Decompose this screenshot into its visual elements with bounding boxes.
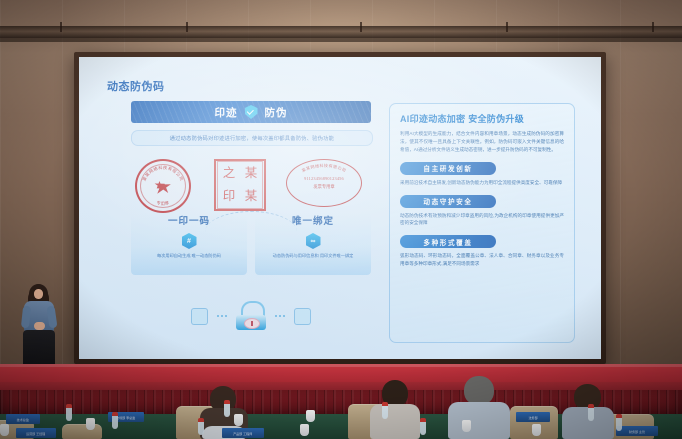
- water-bottle: [382, 402, 388, 419]
- square-seal: 之 某 印 某: [214, 159, 266, 211]
- stamp-icon: [294, 308, 311, 325]
- pair-card-title: 一印一码: [168, 213, 210, 227]
- tea-cup: [234, 414, 243, 426]
- nameplate-text: 产品部 工程师: [233, 431, 252, 436]
- right-panel-body: 利用AI大模型的生成能力，结合文件内容和用章场景，动态生成防伪码的加密算法，使其…: [400, 130, 564, 154]
- svg-text:某某网络科技有限公司: 某某网络科技有限公司: [300, 162, 347, 173]
- slide-right-panel: AI印迹动态加密 安全防伪升级 利用AI大模型的生成能力，结合文件内容和用章场景…: [389, 103, 575, 343]
- slide-banner: 印迹 防伪: [131, 101, 371, 123]
- tea-cup: [306, 410, 315, 422]
- audience-shirt: [448, 402, 510, 439]
- presentation-slide: 动态防伪码 印迹 防伪 通过动态防伪码对印迹进行加密，使每次盖印都具备防伪、验伪…: [79, 57, 601, 359]
- tea-cup: [86, 418, 95, 430]
- conference-presentation-photo: 动态防伪码 印迹 防伪 通过动态防伪码对印迹进行加密，使每次盖印都具备防伪、验伪…: [0, 0, 682, 439]
- shield-check-icon: [245, 105, 258, 119]
- document-icon: [191, 308, 208, 325]
- section-chip-independent-rd: 自主研发创新: [400, 162, 496, 175]
- water-bottle: [198, 418, 204, 435]
- nameplate-text: 技术总监: [17, 417, 29, 422]
- section-chip-label: 自主研发创新: [423, 163, 472, 173]
- link-dots: [217, 315, 227, 317]
- projection-screen: 动态防伪码 印迹 防伪 通过动态防伪码对印迹进行加密，使每次盖印都具备防伪、验伪…: [79, 57, 601, 359]
- rail-tick: [60, 22, 62, 32]
- lock-icon: [236, 302, 266, 330]
- oval-seal: 某某网络科技有限公司 91123456890123456 发票专用章: [286, 159, 362, 207]
- presenter-trousers: [23, 330, 55, 367]
- link-bind-icon: ∞: [306, 233, 321, 249]
- tea-cup: [462, 420, 471, 432]
- rail-tick: [506, 22, 508, 32]
- square-seal-inner: 之 某 印 某: [217, 161, 263, 209]
- table-nameplate: 技术总监: [6, 414, 40, 424]
- table-nameplate: 法务部: [516, 412, 550, 422]
- slide-subtitle: 通过动态防伪码对印迹进行加密，使每次盖印都具备防伪、验伪功能: [131, 130, 373, 146]
- audience-member: [448, 376, 510, 439]
- pair-cards: 一印一码 # 每次用印自动生成 唯一动态防伪码 唯一绑定 ∞ 动态防伪码与用印信…: [131, 213, 371, 275]
- presenter-arm-right: [47, 306, 58, 329]
- seal-row: 某某网络科技有限公司 专用章 之 某 印 某: [131, 157, 371, 209]
- presenter-hands: [34, 322, 45, 330]
- nameplate-text: 市场部 李总监: [116, 415, 135, 420]
- slide-title: 动态防伪码: [107, 78, 165, 94]
- water-bottle: [112, 412, 118, 429]
- dynamic-code-icon: #: [182, 233, 197, 249]
- round-star-seal: 某某网络科技有限公司 专用章: [135, 159, 191, 213]
- right-panel-title: AI印迹动态加密 安全防伪升级: [400, 112, 564, 125]
- audience-head: [464, 376, 494, 405]
- section-chip-label: 多种形式覆盖: [423, 237, 472, 247]
- rail-tick: [360, 22, 362, 32]
- nameplate-text: 运营部 王经理: [26, 431, 45, 436]
- presenter-speaker: [16, 284, 62, 370]
- section-text-multi-format: 弧形动态码、环形动态码，全面覆盖公章、法人章、合同章、财务章以及业务专用章等多种…: [400, 252, 564, 268]
- slide-subtitle-text: 通过动态防伪码对印迹进行加密，使每次盖印都具备防伪、验伪功能: [170, 134, 334, 142]
- seal-char: 某: [245, 167, 258, 180]
- svg-text:专用章: 专用章: [156, 199, 170, 206]
- nameplate-text: 法务部: [528, 415, 537, 420]
- tea-cup: [300, 424, 309, 436]
- water-bottle: [588, 404, 594, 421]
- oval-seal-arc-text: 某某网络科技有限公司: [287, 160, 361, 206]
- tea-cup: [532, 424, 541, 436]
- pair-card-title: 唯一绑定: [292, 213, 334, 227]
- pair-card-desc: 每次用印自动生成 唯一动态防伪码: [136, 253, 243, 260]
- stage-edge-highlight: [0, 364, 682, 367]
- section-text-independent-rd: 采用前沿技术自主研发,创新动态防伪能力为用印全流程提供高度安全、可靠保障: [400, 179, 564, 187]
- water-bottle: [616, 414, 622, 431]
- table-nameplate: 财务部 主管: [616, 426, 658, 436]
- section-chip-dynamic-security: 动态守护安全: [400, 195, 496, 208]
- water-bottle: [66, 404, 72, 421]
- nameplate-text: 财务部 主管: [629, 429, 645, 434]
- table-nameplate: 运营部 王经理: [16, 428, 56, 438]
- seal-char: 印: [223, 190, 236, 203]
- lock-dial: [244, 318, 260, 329]
- water-bottle: [224, 400, 230, 417]
- rail-tick: [186, 22, 188, 32]
- banner-right-text: 防伪: [265, 105, 288, 120]
- svg-text:某某网络科技有限公司: 某某网络科技有限公司: [141, 164, 185, 182]
- audience-chair: [62, 424, 102, 439]
- banner-left-text: 印迹: [215, 105, 238, 120]
- section-chip-label: 动态守护安全: [423, 196, 472, 206]
- water-bottle: [420, 418, 426, 435]
- table-nameplate: 产品部 工程师: [222, 428, 264, 438]
- slide-left-column: 印迹 防伪 通过动态防伪码对印迹进行加密，使每次盖印都具备防伪、验伪功能 某某网…: [131, 101, 371, 275]
- section-text-dynamic-security: 动态防伪技术有效预防和减少印章盗用的风险,为政企机构的印章使用提供更加严密的安全…: [400, 212, 564, 228]
- presenter-face: [34, 289, 43, 299]
- ceiling-rail-shadow: [0, 38, 682, 42]
- pair-card-desc: 动态防伪码与用印信息和 用印文件唯一绑定: [260, 253, 367, 260]
- seal-char: 某: [245, 190, 258, 203]
- link-dots: [275, 315, 285, 317]
- section-chip-multi-format: 多种形式覆盖: [400, 235, 496, 248]
- audience-member: [368, 380, 422, 439]
- pair-card-one-seal-one-code: 一印一码 # 每次用印自动生成 唯一动态防伪码: [131, 213, 247, 275]
- ceiling-rail: [0, 26, 682, 38]
- audience-shirt: [370, 404, 420, 439]
- lock-graphic: [131, 293, 371, 339]
- pair-card-unique-binding: 唯一绑定 ∞ 动态防伪码与用印信息和 用印文件唯一绑定: [255, 213, 371, 275]
- seal-char: 之: [223, 167, 236, 180]
- tea-cup: [0, 424, 9, 436]
- rail-tick: [652, 22, 654, 32]
